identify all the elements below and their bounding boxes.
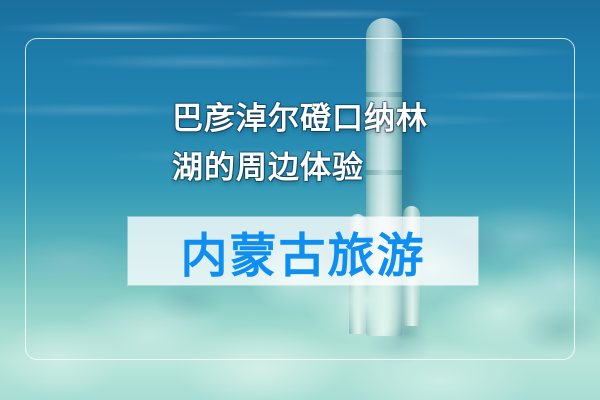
- banner-headline: 内蒙古旅游: [128, 217, 478, 285]
- banner-subtitle: 巴彦淖尔磴口纳林 湖的周边体验: [172, 94, 512, 192]
- blue-color-overlay: [0, 0, 600, 400]
- travel-promo-banner: 巴彦淖尔磴口纳林 湖的周边体验 内蒙古旅游: [0, 0, 600, 400]
